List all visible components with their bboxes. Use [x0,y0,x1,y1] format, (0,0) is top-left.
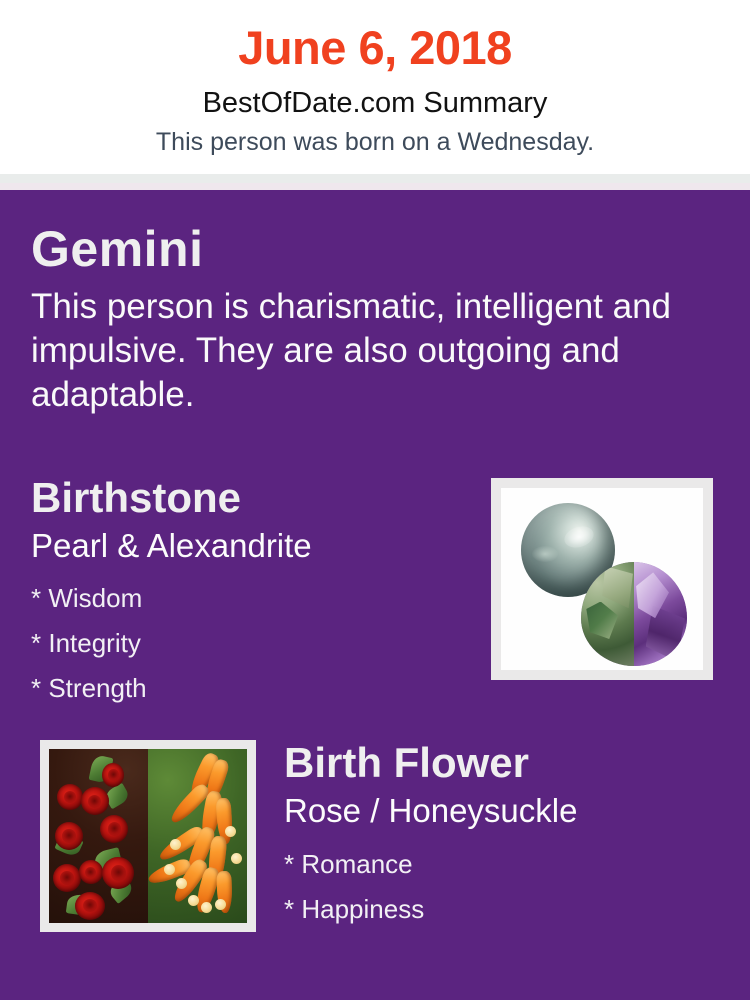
birth-flower-names: Rose / Honeysuckle [284,790,577,832]
zodiac-panel: Gemini This person is charismatic, intel… [0,190,750,1000]
list-item: * Wisdom [31,576,451,621]
zodiac-sign-name: Gemini [31,220,203,278]
birth-flower-trait-list: * Romance * Happiness [284,842,704,932]
birth-flower-image [49,749,247,923]
list-item: * Happiness [284,887,704,932]
birthstone-image-frame [491,478,713,680]
site-summary-label: BestOfDate.com Summary [0,85,750,121]
birth-flower-heading: Birth Flower [284,738,529,788]
birthstone-heading: Birthstone [31,473,241,523]
birthstone-image [501,488,703,670]
list-item: * Integrity [31,621,451,666]
alexandrite-graphic [581,562,687,666]
roses-photo-half [49,749,148,923]
header-divider-pink [0,183,750,190]
birth-day-note: This person was born on a Wednesday. [0,126,750,158]
list-item: * Romance [284,842,704,887]
alexandrite-rough-half [581,562,634,666]
card-header: June 6, 2018 BestOfDate.com Summary This… [0,0,750,174]
zodiac-description: This person is charismatic, intelligent … [31,285,701,417]
header-divider-light [0,174,750,183]
birthstone-names: Pearl & Alexandrite [31,525,312,567]
page-title: June 6, 2018 [0,18,750,78]
birthstone-trait-list: * Wisdom * Integrity * Strength [31,576,451,711]
list-item: * Strength [31,666,451,711]
alexandrite-faceted-half [634,562,687,666]
birthday-summary-card: June 6, 2018 BestOfDate.com Summary This… [0,0,750,1000]
honeysuckle-photo-half [148,749,247,923]
birth-flower-image-frame [40,740,256,932]
